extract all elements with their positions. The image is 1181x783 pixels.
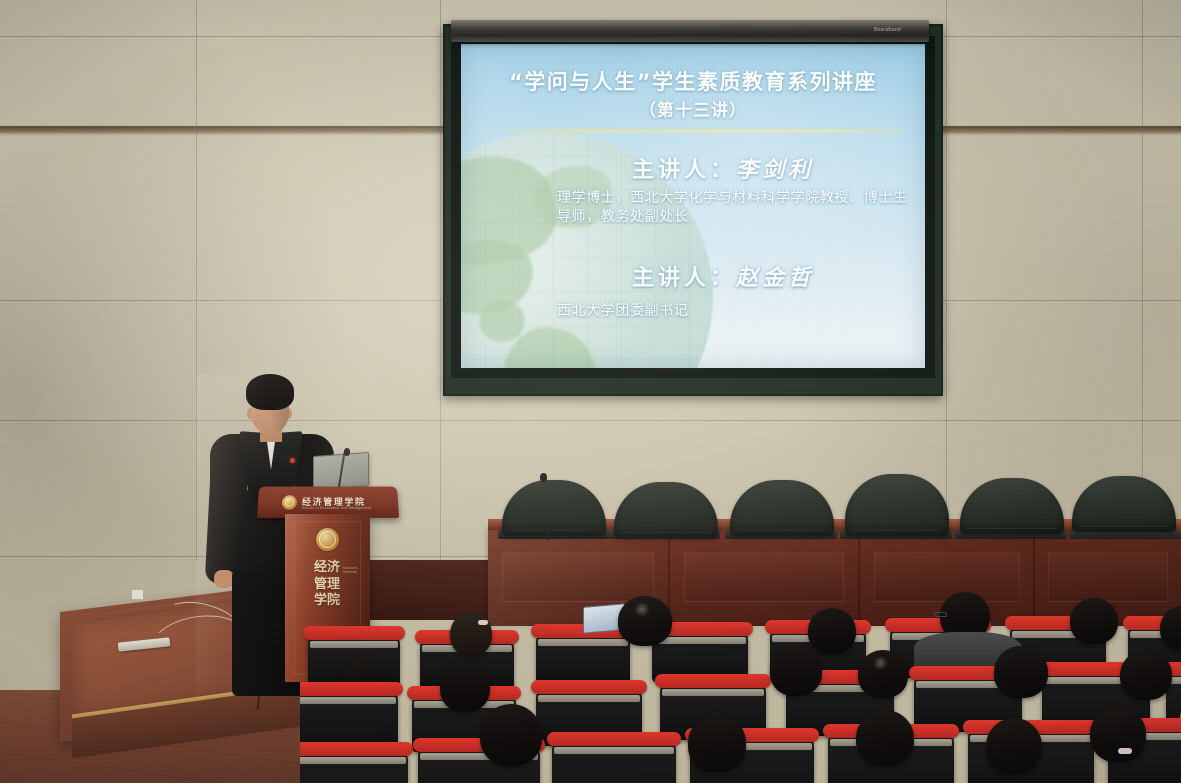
university-emblem-icon — [282, 495, 298, 510]
audience-head — [858, 650, 908, 698]
speaker-1-description: 理学博士，西北大学化学与材料科学学院教授、博士生导师，教务处副处长 — [557, 189, 911, 228]
podium-front-name-en: Northwest University — [343, 566, 353, 574]
valance-brand-label: Boardband — [874, 27, 901, 33]
slide-subtitle: （第十三讲） — [461, 96, 925, 121]
audience-head — [1090, 706, 1146, 762]
presenter-hair — [246, 374, 294, 410]
speaker-1-name: 李剑利 — [736, 157, 814, 183]
audience-head — [994, 646, 1048, 698]
audience-head — [1120, 650, 1172, 700]
projected-slide: “学问与人生”学生素质教育系列讲座 （第十三讲） 主讲人：李剑利 理学博士，西北… — [461, 44, 925, 368]
audience-head — [688, 714, 746, 772]
audience-head — [618, 596, 672, 646]
speaker-1-line: 主讲人：李剑利 — [531, 152, 915, 184]
podium-name-en: School of Economics and Management — [302, 506, 372, 510]
university-emblem-front-icon — [316, 528, 339, 551]
slide-divider-rule — [505, 130, 903, 132]
audience-head — [808, 608, 856, 654]
speaker-2-name: 赵金哲 — [736, 265, 814, 291]
audience-head — [450, 612, 492, 656]
audience-head — [440, 662, 490, 712]
speaker-1-role: 主讲人： — [632, 158, 736, 183]
projector-screen-valance: Boardband — [451, 20, 929, 42]
audience-head — [770, 646, 822, 696]
audience-seat — [552, 738, 676, 783]
speaker-2-description: 西北大学团委副书记 — [557, 300, 911, 320]
audience-seat — [536, 630, 630, 684]
audience-head — [856, 710, 914, 766]
wall-power-outlet — [131, 589, 144, 600]
audience-head — [986, 718, 1042, 774]
audience-seat — [300, 748, 408, 783]
dais-microphone-head — [540, 473, 547, 482]
audience-head — [1070, 598, 1118, 644]
audience-seat — [300, 688, 398, 748]
podium-microphone-head — [344, 448, 350, 456]
lapel-pin — [290, 458, 295, 463]
speaker-2-line: 主讲人：赵金哲 — [531, 260, 915, 292]
audience-head — [480, 704, 542, 766]
speaker-2-role: 主讲人： — [632, 266, 736, 291]
projection-screen-board: “学问与人生”学生素质教育系列讲座 （第十三讲） 主讲人：李剑利 理学博士，西北… — [443, 24, 943, 396]
audience-area — [300, 588, 1181, 783]
lecture-hall-photo: “学问与人生”学生素质教育系列讲座 （第十三讲） 主讲人：李剑利 理学博士，西北… — [0, 0, 1181, 783]
slide-title: “学问与人生”学生素质教育系列讲座 — [461, 66, 925, 96]
